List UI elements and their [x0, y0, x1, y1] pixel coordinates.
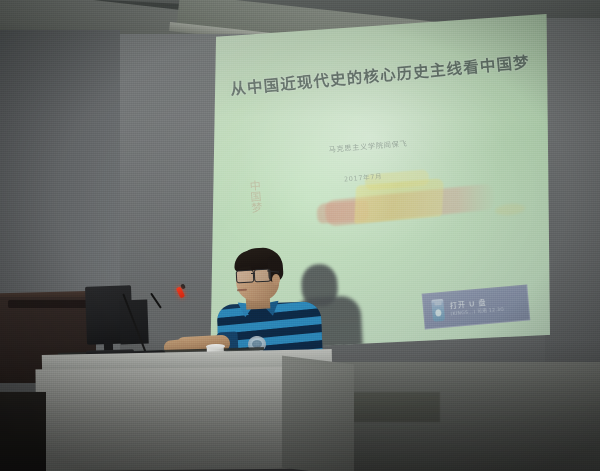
eyeglasses-bridge [251, 273, 255, 274]
desk-side-panel [282, 356, 354, 471]
slide-art-smudge [495, 202, 526, 216]
usb-notification-text: 打开 U 盘 (KINGS...) 可用 12.3G [449, 296, 504, 317]
slide-title: 从中国近现代史的核心历史主线看中国梦 [225, 50, 536, 100]
eyeglasses-lens-left [236, 270, 255, 284]
usb-notification-toast[interactable]: 打开 U 盘 (KINGS...) 可用 12.3G [422, 284, 531, 329]
presenter-ear [272, 274, 280, 285]
lecture-room-photo: 中国梦 从中国近现代史的核心历史主线看中国梦 马克思主义学院阎保飞 2017年7… [0, 0, 600, 471]
slide-author: 马克思主义学院阎保飞 [253, 133, 483, 161]
slide-art-vertical-text: 中国梦 [248, 180, 263, 214]
floor [0, 392, 46, 471]
cabinet-recess [8, 300, 88, 308]
desk-front-panel [35, 367, 298, 471]
slide-art-gate-body [354, 178, 444, 224]
usb-flash-drive-icon [431, 299, 445, 322]
